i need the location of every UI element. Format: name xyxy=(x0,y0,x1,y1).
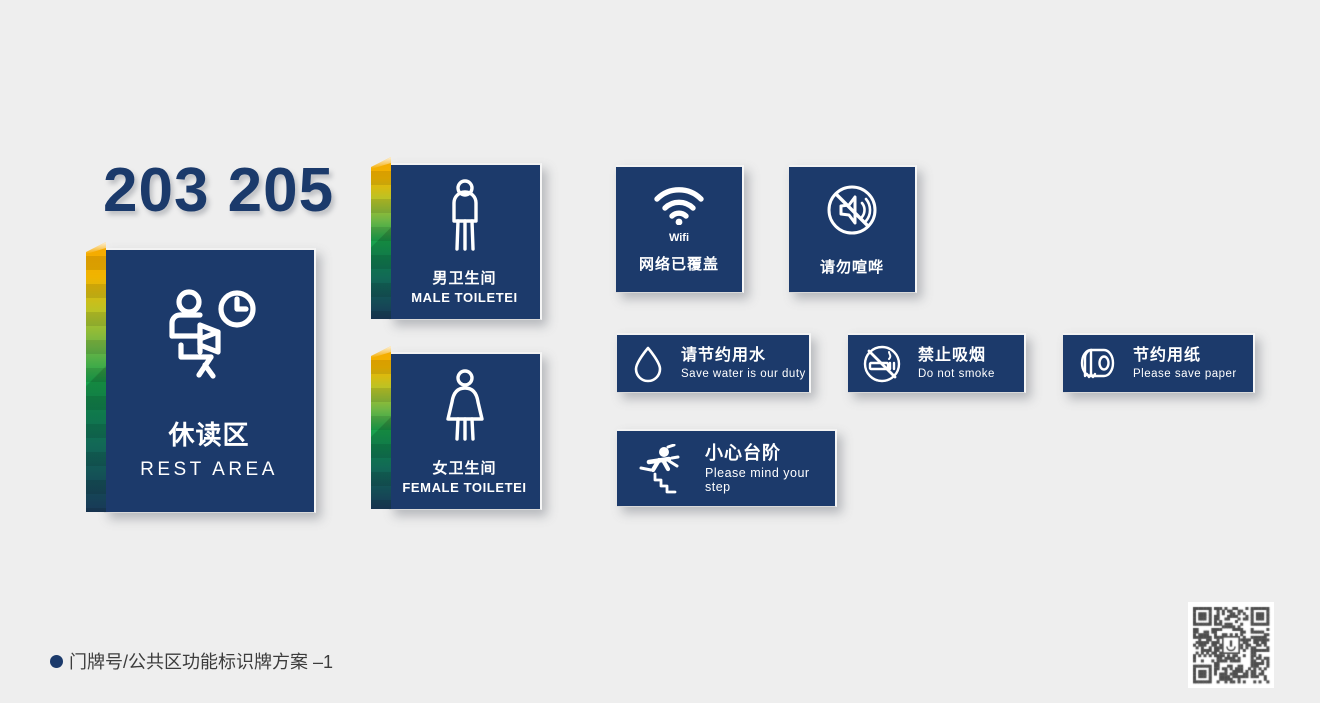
female-figure-icon xyxy=(444,369,486,441)
sign-no-smoking[interactable]: 禁止吸烟 Do not smoke xyxy=(848,333,1026,393)
sign-male-toilet-en: MALE TOILETEI xyxy=(411,290,518,305)
sign-female-toilet-cn: 女卫生间 xyxy=(432,457,496,478)
qr-code[interactable] xyxy=(1188,602,1274,688)
male-figure-icon xyxy=(445,179,485,251)
signage-design-board: 203 205 休读区 xyxy=(0,0,1320,703)
sign-save-water[interactable]: 请节约用水 Save water is our duty xyxy=(617,333,811,393)
sign-rest-area[interactable]: 休读区 REST AREA xyxy=(104,248,316,513)
slipping-person-stairs-icon xyxy=(637,444,685,494)
no-shouting-icon xyxy=(824,182,880,238)
gradient-accent-strip xyxy=(371,157,391,319)
wifi-icon xyxy=(651,185,707,225)
person-reading-clock-icon xyxy=(159,287,259,381)
sign-mind-your-step-cn: 小心台阶 xyxy=(705,443,835,464)
caption: 门牌号/公共区功能标识牌方案 –1 xyxy=(50,648,333,674)
sign-save-water-cn: 请节约用水 xyxy=(681,347,806,365)
sign-mind-your-step[interactable]: 小心台阶 Please mind your step xyxy=(617,429,837,507)
sign-rest-area-en: REST AREA xyxy=(140,459,278,481)
toilet-paper-roll-icon xyxy=(1077,345,1117,383)
sign-female-toilet[interactable]: 女卫生间 FEMALE TOILETEI xyxy=(389,352,542,510)
gradient-accent-strip xyxy=(86,242,106,512)
caption-text: 门牌号/公共区功能标识牌方案 –1 xyxy=(69,648,333,674)
sign-no-shouting[interactable]: 请勿喧哗 xyxy=(789,165,917,293)
water-drop-icon xyxy=(633,345,663,383)
no-smoking-icon xyxy=(862,344,902,384)
room-numbers-title: 203 205 xyxy=(103,160,334,222)
sign-male-toilet-cn: 男卫生间 xyxy=(432,267,496,288)
sign-female-toilet-en: FEMALE TOILETEI xyxy=(402,480,526,495)
sign-save-paper-en: Please save paper xyxy=(1133,368,1237,380)
sign-save-paper-cn: 节约用纸 xyxy=(1133,347,1237,365)
sign-mind-your-step-en: Please mind your step xyxy=(705,466,835,494)
sign-no-smoking-en: Do not smoke xyxy=(918,368,995,380)
sign-wifi[interactable]: Wifi 网络已覆盖 xyxy=(616,165,744,293)
sign-no-shouting-cn: 请勿喧哗 xyxy=(820,256,884,277)
bullet-dot-icon xyxy=(50,655,63,668)
sign-wifi-sub: Wifi xyxy=(669,232,689,244)
gradient-accent-strip xyxy=(371,346,391,509)
sign-save-paper[interactable]: 节约用纸 Please save paper xyxy=(1063,333,1255,393)
sign-no-smoking-cn: 禁止吸烟 xyxy=(918,347,995,365)
sign-wifi-cn: 网络已覆盖 xyxy=(639,253,719,274)
sign-male-toilet[interactable]: 男卫生间 MALE TOILETEI xyxy=(389,163,542,320)
sign-save-water-en: Save water is our duty xyxy=(681,368,806,380)
sign-rest-area-cn: 休读区 xyxy=(168,415,249,452)
